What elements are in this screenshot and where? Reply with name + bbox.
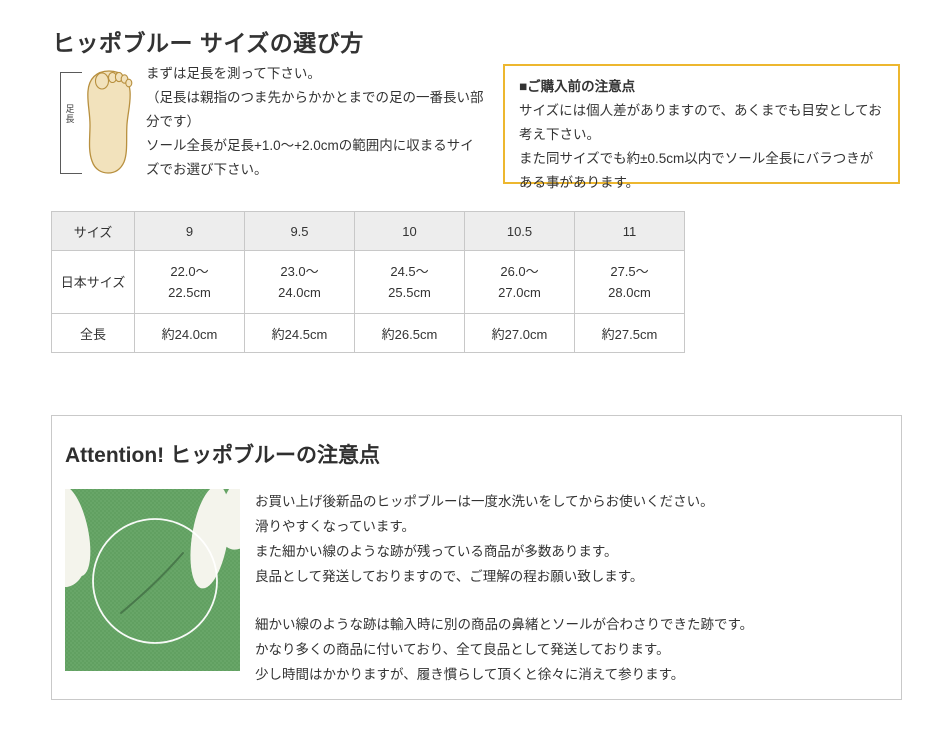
- table-row-label-total-length: 全長: [52, 314, 135, 353]
- table-header-size-9: 9: [135, 212, 245, 251]
- cell-line: 28.0cm: [575, 282, 684, 303]
- purchase-notice-line-2: また同サイズでも約±0.5cm以内でソール全長にバラつきがある事があります。: [519, 147, 884, 195]
- table-row-label-japan-size: 日本サイズ: [52, 251, 135, 314]
- table-cell-japan-size-10-5: 26.0〜 27.0cm: [465, 251, 575, 314]
- measure-instruction-line-1: まずは足長を測って下さい。: [146, 62, 486, 86]
- table-header-size-10-5: 10.5: [465, 212, 575, 251]
- table-cell-japan-size-10: 24.5〜 25.5cm: [355, 251, 465, 314]
- foot-length-label-char-1: 足: [62, 104, 78, 114]
- measure-instruction-text: まずは足長を測って下さい。 （足長は親指のつま先からかかとまでの足の一番長い部分…: [146, 62, 486, 182]
- paragraph-spacer: [255, 589, 885, 612]
- purchase-notice-title: ■ご購入前の注意点: [519, 76, 884, 98]
- cell-line: 24.0cm: [245, 282, 354, 303]
- page-title: ヒッポブルー サイズの選び方: [52, 24, 364, 58]
- purchase-notice-line-1: サイズには個人差がありますので、あくまでも目安としてお考え下さい。: [519, 99, 884, 147]
- table-header-size-label: サイズ: [52, 212, 135, 251]
- table-row-total-length: 全長 約24.0cm 約24.5cm 約26.5cm 約27.0cm 約27.5…: [52, 314, 685, 353]
- attention-p2-line-3: 少し時間はかかりますが、履き慣らして頂くと徐々に消えて参ります。: [255, 662, 885, 687]
- cell-line: 23.0〜: [245, 261, 354, 282]
- cell-line: 25.5cm: [355, 282, 464, 303]
- table-header-row: サイズ 9 9.5 10 10.5 11: [52, 212, 685, 251]
- measure-instruction-line-2: （足長は親指のつま先からかかとまでの足の一番長い部分です）: [146, 86, 486, 134]
- table-header-size-9-5: 9.5: [245, 212, 355, 251]
- attention-p1-line-4: 良品として発送しておりますので、ご理解の程お願い致します。: [255, 564, 885, 589]
- foot-length-label-char-2: 長: [62, 114, 78, 124]
- table-cell-total-length-9: 約24.0cm: [135, 314, 245, 353]
- measure-instructions-row: 足 長 まずは足長を測って下さい。 （足長は親指のつま先からかかとまでの足の一番…: [0, 62, 942, 192]
- purchase-notice-body: サイズには個人差がありますので、あくまでも目安としてお考え下さい。 また同サイズ…: [519, 99, 884, 195]
- cell-line: 22.0〜: [135, 261, 244, 282]
- attention-p1-line-1: お買い上げ後新品のヒッポブルーは一度水洗いをしてからお使いください。: [255, 489, 885, 514]
- sandal-sole-photo: [65, 489, 240, 671]
- table-header-size-11: 11: [575, 212, 685, 251]
- size-chart-table: サイズ 9 9.5 10 10.5 11 日本サイズ 22.0〜 22.5cm …: [51, 211, 685, 353]
- foot-length-label: 足 長: [62, 102, 78, 126]
- attention-p2-line-1: 細かい線のような跡は輸入時に別の商品の鼻緒とソールが合わさりできた跡です。: [255, 612, 885, 637]
- table-cell-japan-size-9-5: 23.0〜 24.0cm: [245, 251, 355, 314]
- table-cell-japan-size-9: 22.0〜 22.5cm: [135, 251, 245, 314]
- cell-line: 27.5〜: [575, 261, 684, 282]
- sandal-sole-photo-graphic: [65, 489, 240, 671]
- cell-line: 26.0〜: [465, 261, 574, 282]
- attention-panel: Attention! ヒッポブルーの注意点 お買い上げ後新品のヒッポブルーは一度…: [51, 415, 902, 700]
- measure-instruction-line-3: ソール全長が足長+1.0〜+2.0cmの範囲内に収まるサイズでお選び下さい。: [146, 134, 486, 182]
- table-cell-total-length-9-5: 約24.5cm: [245, 314, 355, 353]
- table-row-japan-size: 日本サイズ 22.0〜 22.5cm 23.0〜 24.0cm 24.5〜 25…: [52, 251, 685, 314]
- cell-line: 27.0cm: [465, 282, 574, 303]
- attention-p1-line-3: また細かい線のような跡が残っている商品が多数あります。: [255, 539, 885, 564]
- attention-p2-line-2: かなり多くの商品に付いており、全て良品として発送しております。: [255, 637, 885, 662]
- foot-sole-icon: [82, 68, 136, 176]
- cell-line: 24.5〜: [355, 261, 464, 282]
- cell-line: 22.5cm: [135, 282, 244, 303]
- purchase-notice-box: ■ご購入前の注意点 サイズには個人差がありますので、あくまでも目安としてお考え下…: [503, 64, 900, 184]
- table-header-size-10: 10: [355, 212, 465, 251]
- foot-length-diagram: 足 長: [52, 64, 144, 182]
- table-cell-total-length-11: 約27.5cm: [575, 314, 685, 353]
- table-cell-total-length-10: 約26.5cm: [355, 314, 465, 353]
- attention-p1-line-2: 滑りやすくなっています。: [255, 514, 885, 539]
- table-cell-japan-size-11: 27.5〜 28.0cm: [575, 251, 685, 314]
- attention-body-text: お買い上げ後新品のヒッポブルーは一度水洗いをしてからお使いください。 滑りやすく…: [255, 489, 885, 687]
- attention-title: Attention! ヒッポブルーの注意点: [65, 439, 380, 469]
- table-cell-total-length-10-5: 約27.0cm: [465, 314, 575, 353]
